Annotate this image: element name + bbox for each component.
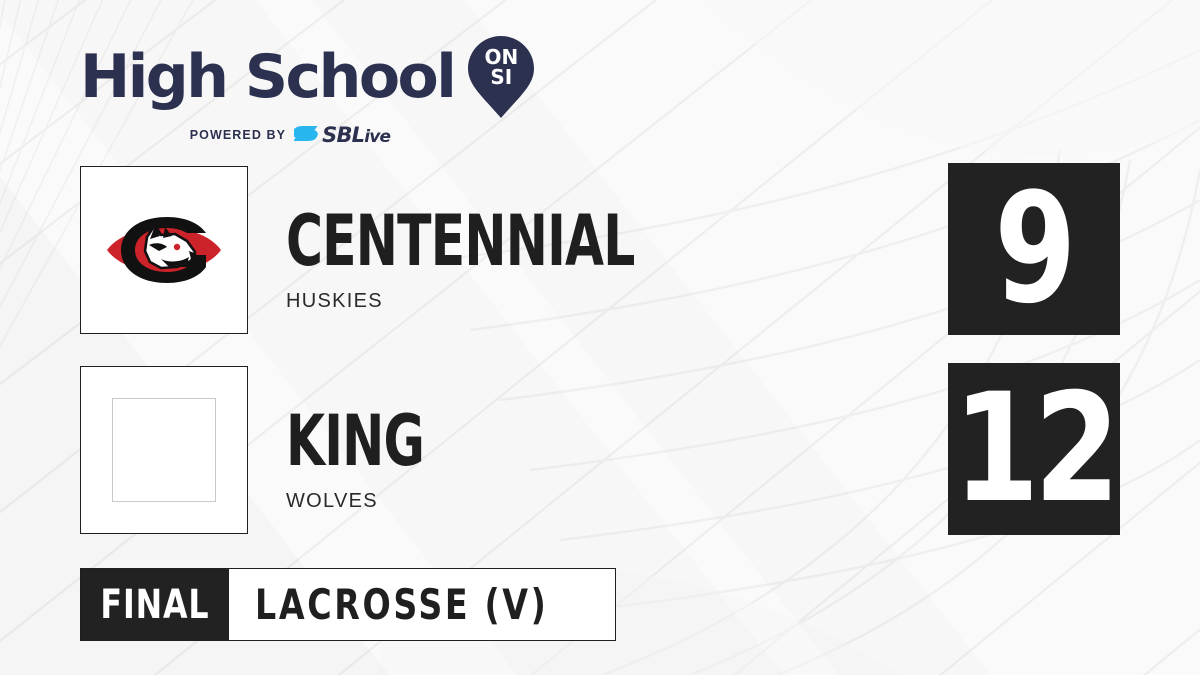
team-logo-box-away <box>80 366 248 534</box>
status-badge: FINAL <box>81 569 229 640</box>
sblive-s-mark-icon <box>294 124 320 146</box>
sblive-word-lower: ive <box>364 127 390 147</box>
sblive-wordmark: SBLive <box>322 125 390 146</box>
team-mascot-away: WOLVES <box>286 490 926 513</box>
score-value-away: 12 <box>953 374 1115 524</box>
team-logo-box-home <box>80 166 248 334</box>
team-info-home: CENTENNIAL HUSKIES <box>286 166 926 313</box>
team-name-away: KING <box>286 406 798 476</box>
brand-title: High School <box>80 47 454 107</box>
on-si-pin-text: ON SI <box>468 48 534 87</box>
team-mascot-home: HUSKIES <box>286 290 926 313</box>
sblive-word-upper: SBL <box>322 123 364 147</box>
status-state-label: FINAL <box>100 585 209 625</box>
team-name-home: CENTENNIAL <box>286 206 798 276</box>
game-status-bar: FINAL LACROSSE (V) <box>80 568 616 641</box>
powered-by-row: POWERED BY SBLive <box>80 124 500 146</box>
scoreboard-graphic: High School ON SI POWERED BY SBLive <box>0 0 1200 675</box>
score-value-home: 9 <box>995 173 1073 325</box>
team-info-away: KING WOLVES <box>286 366 926 513</box>
powered-by-label: POWERED BY <box>190 128 286 142</box>
team-logo-placeholder-away <box>112 398 216 502</box>
on-si-pin-icon: ON SI <box>468 36 534 118</box>
sport-label-panel: LACROSSE (V) <box>229 569 615 640</box>
brand-lockup: High School ON SI POWERED BY SBLive <box>80 36 534 146</box>
sblive-logo: SBLive <box>294 124 390 146</box>
husky-crest-icon <box>103 211 225 289</box>
pin-label-bottom: SI <box>468 68 534 88</box>
score-box-away: 12 <box>948 363 1120 535</box>
score-box-home: 9 <box>948 163 1120 335</box>
brand-row: High School ON SI <box>80 36 534 118</box>
sport-label: LACROSSE (V) <box>255 584 549 626</box>
